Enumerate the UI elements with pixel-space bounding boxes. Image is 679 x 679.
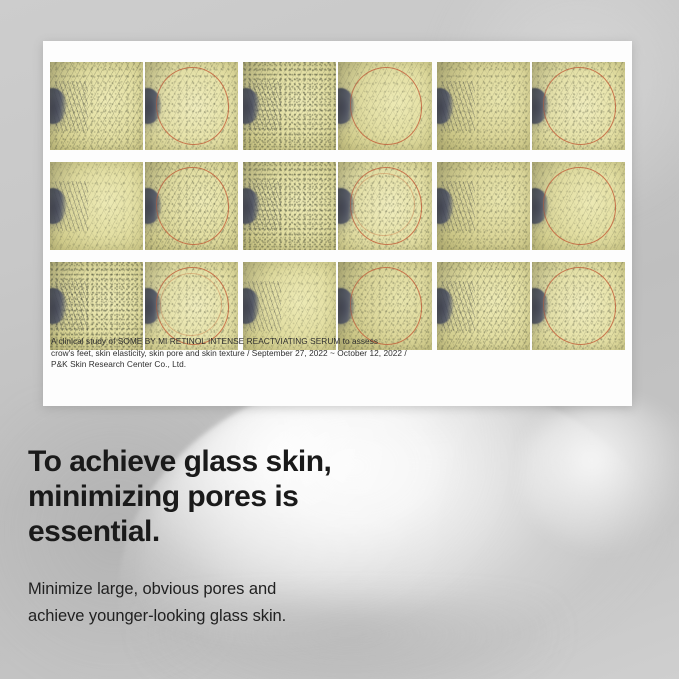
tile-vignette xyxy=(338,62,431,150)
skin-image-before xyxy=(50,162,143,250)
tile-vignette xyxy=(338,162,431,250)
tile-vignette xyxy=(437,62,530,150)
tile-vignette xyxy=(243,62,336,150)
skin-image-after xyxy=(145,62,238,150)
subcopy-line-2: achieve younger-looking glass skin. xyxy=(28,603,458,630)
caption-line-3: P&K Skin Research Center Co., Ltd. xyxy=(51,359,611,371)
image-pair-cell xyxy=(437,62,625,150)
skin-image-after xyxy=(338,62,431,150)
tile-vignette xyxy=(50,62,143,150)
skin-image-before xyxy=(243,62,336,150)
skin-image-before xyxy=(243,162,336,250)
headline-line-2: minimizing pores is xyxy=(28,479,448,514)
clinical-study-caption: A clinical study of SOME BY MI RETINOL I… xyxy=(51,336,611,371)
clinical-image-grid xyxy=(50,62,625,350)
caption-line-2: crow's feet, skin elasticity, skin pore … xyxy=(51,348,611,360)
skin-image-after xyxy=(532,162,625,250)
skin-image-after xyxy=(532,62,625,150)
skin-image-before xyxy=(437,162,530,250)
tile-vignette xyxy=(243,162,336,250)
subcopy-line-1: Minimize large, obvious pores and xyxy=(28,576,458,603)
tile-vignette xyxy=(145,162,238,250)
headline-line-1: To achieve glass skin, xyxy=(28,444,448,479)
image-pair-cell xyxy=(50,62,238,150)
skin-image-after xyxy=(145,162,238,250)
image-pair-cell xyxy=(50,162,238,250)
skin-image-before xyxy=(437,62,530,150)
caption-line-1: A clinical study of SOME BY MI RETINOL I… xyxy=(51,336,611,348)
tile-vignette xyxy=(532,62,625,150)
subcopy: Minimize large, obvious pores and achiev… xyxy=(28,576,458,630)
tile-vignette xyxy=(50,162,143,250)
headline: To achieve glass skin, minimizing pores … xyxy=(28,444,448,549)
clinical-study-card: A clinical study of SOME BY MI RETINOL I… xyxy=(43,41,632,406)
tile-vignette xyxy=(145,62,238,150)
image-pair-cell xyxy=(243,62,431,150)
tile-vignette xyxy=(437,162,530,250)
tile-vignette xyxy=(532,162,625,250)
headline-line-3: essential. xyxy=(28,514,448,549)
skin-image-before xyxy=(50,62,143,150)
skin-image-after xyxy=(338,162,431,250)
image-pair-cell xyxy=(243,162,431,250)
image-pair-cell xyxy=(437,162,625,250)
